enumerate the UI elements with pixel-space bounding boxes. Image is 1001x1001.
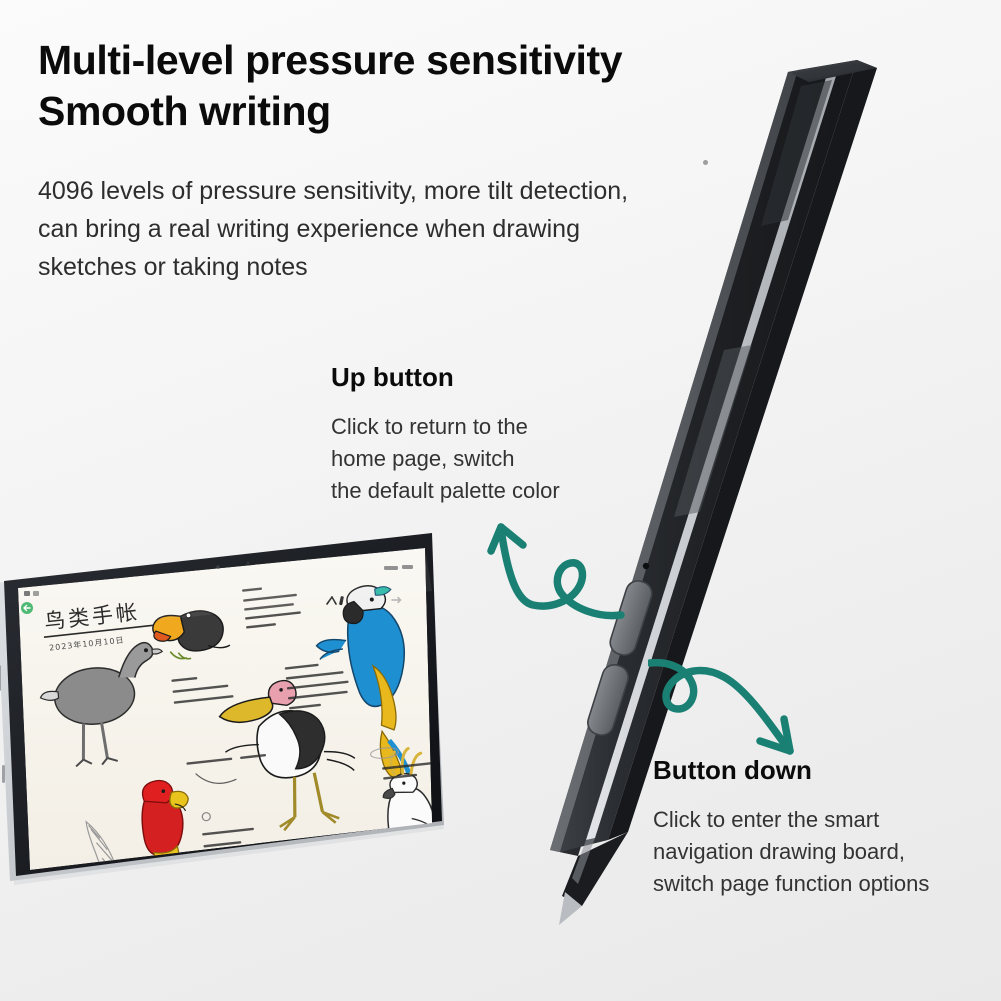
tablet-illustration: 鸟类手帐 2023年10月10日 [0, 525, 460, 905]
front-camera [216, 565, 220, 569]
callout-button-down: Button down Click to enter the smart nav… [653, 755, 929, 900]
callout-down-body: Click to enter the smart navigation draw… [653, 804, 929, 900]
led-indicator [643, 563, 649, 569]
promo-stage: Multi-level pressure sensitivity Smooth … [0, 0, 1001, 1001]
back-arrow-icon[interactable] [21, 602, 33, 614]
callout-up-body: Click to return to the home page, switch… [331, 411, 560, 507]
sensor-dot [247, 562, 250, 565]
stylus-body-right [608, 60, 877, 840]
callout-down-line-2: navigation drawing board, [653, 836, 929, 868]
callout-down-line-3: switch page function options [653, 868, 929, 900]
stylus-facet-left [550, 70, 798, 852]
callout-up-title: Up button [331, 362, 560, 393]
callout-up-line-3: the default palette color [331, 475, 560, 507]
callout-up-line-2: home page, switch [331, 443, 560, 475]
tablet-device: 鸟类手帐 2023年10月10日 [0, 525, 460, 905]
callout-down-title: Button down [653, 755, 929, 786]
callout-up-line-1: Click to return to the [331, 411, 560, 443]
callout-up-button: Up button Click to return to the home pa… [331, 362, 560, 507]
callout-down-line-1: Click to enter the smart [653, 804, 929, 836]
